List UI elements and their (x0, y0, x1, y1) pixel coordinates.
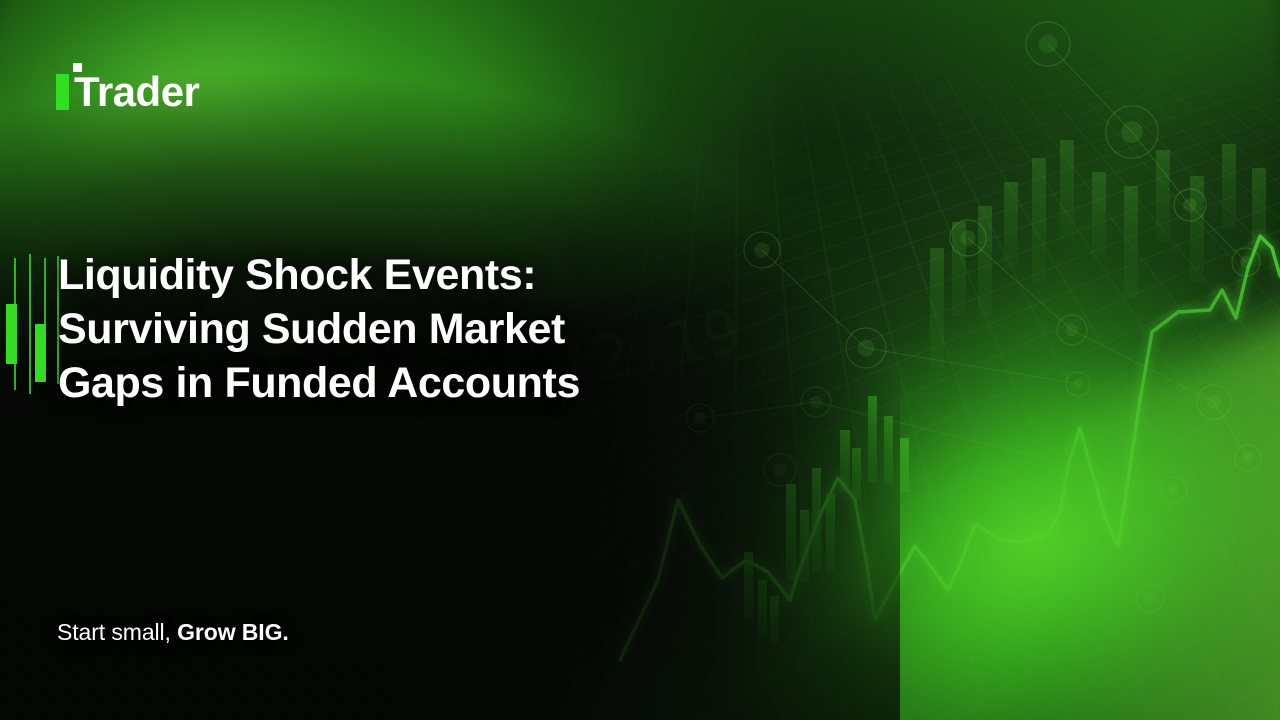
page-title-line-2: Surviving Sudden Market (58, 302, 658, 356)
itrader-logo[interactable]: Trader (56, 66, 199, 110)
logo-wordmark: Trader (74, 74, 199, 110)
accent-candle-body (35, 324, 46, 382)
page-title-line-3: Gaps in Funded Accounts (58, 356, 658, 410)
logo-i-dot-icon (73, 63, 82, 72)
logo-wordmark-text: Trader (74, 68, 199, 115)
logo-i-bar-icon (56, 74, 69, 110)
accent-bodies (6, 304, 46, 382)
accent-candle-body (6, 304, 17, 364)
tagline-light-part: Start small, (57, 619, 177, 645)
page-title: Liquidity Shock Events: Surviving Sudden… (58, 248, 658, 410)
tagline-bold-part: Grow BIG. (177, 619, 289, 645)
blog-banner: 2.19 3.11 27.4 26 (0, 0, 1280, 720)
brand-tagline: Start small, Grow BIG. (57, 617, 289, 647)
bottom-vignette (0, 360, 900, 720)
page-title-line-1: Liquidity Shock Events: (58, 248, 658, 302)
candlestick-accent-icon (6, 252, 62, 402)
